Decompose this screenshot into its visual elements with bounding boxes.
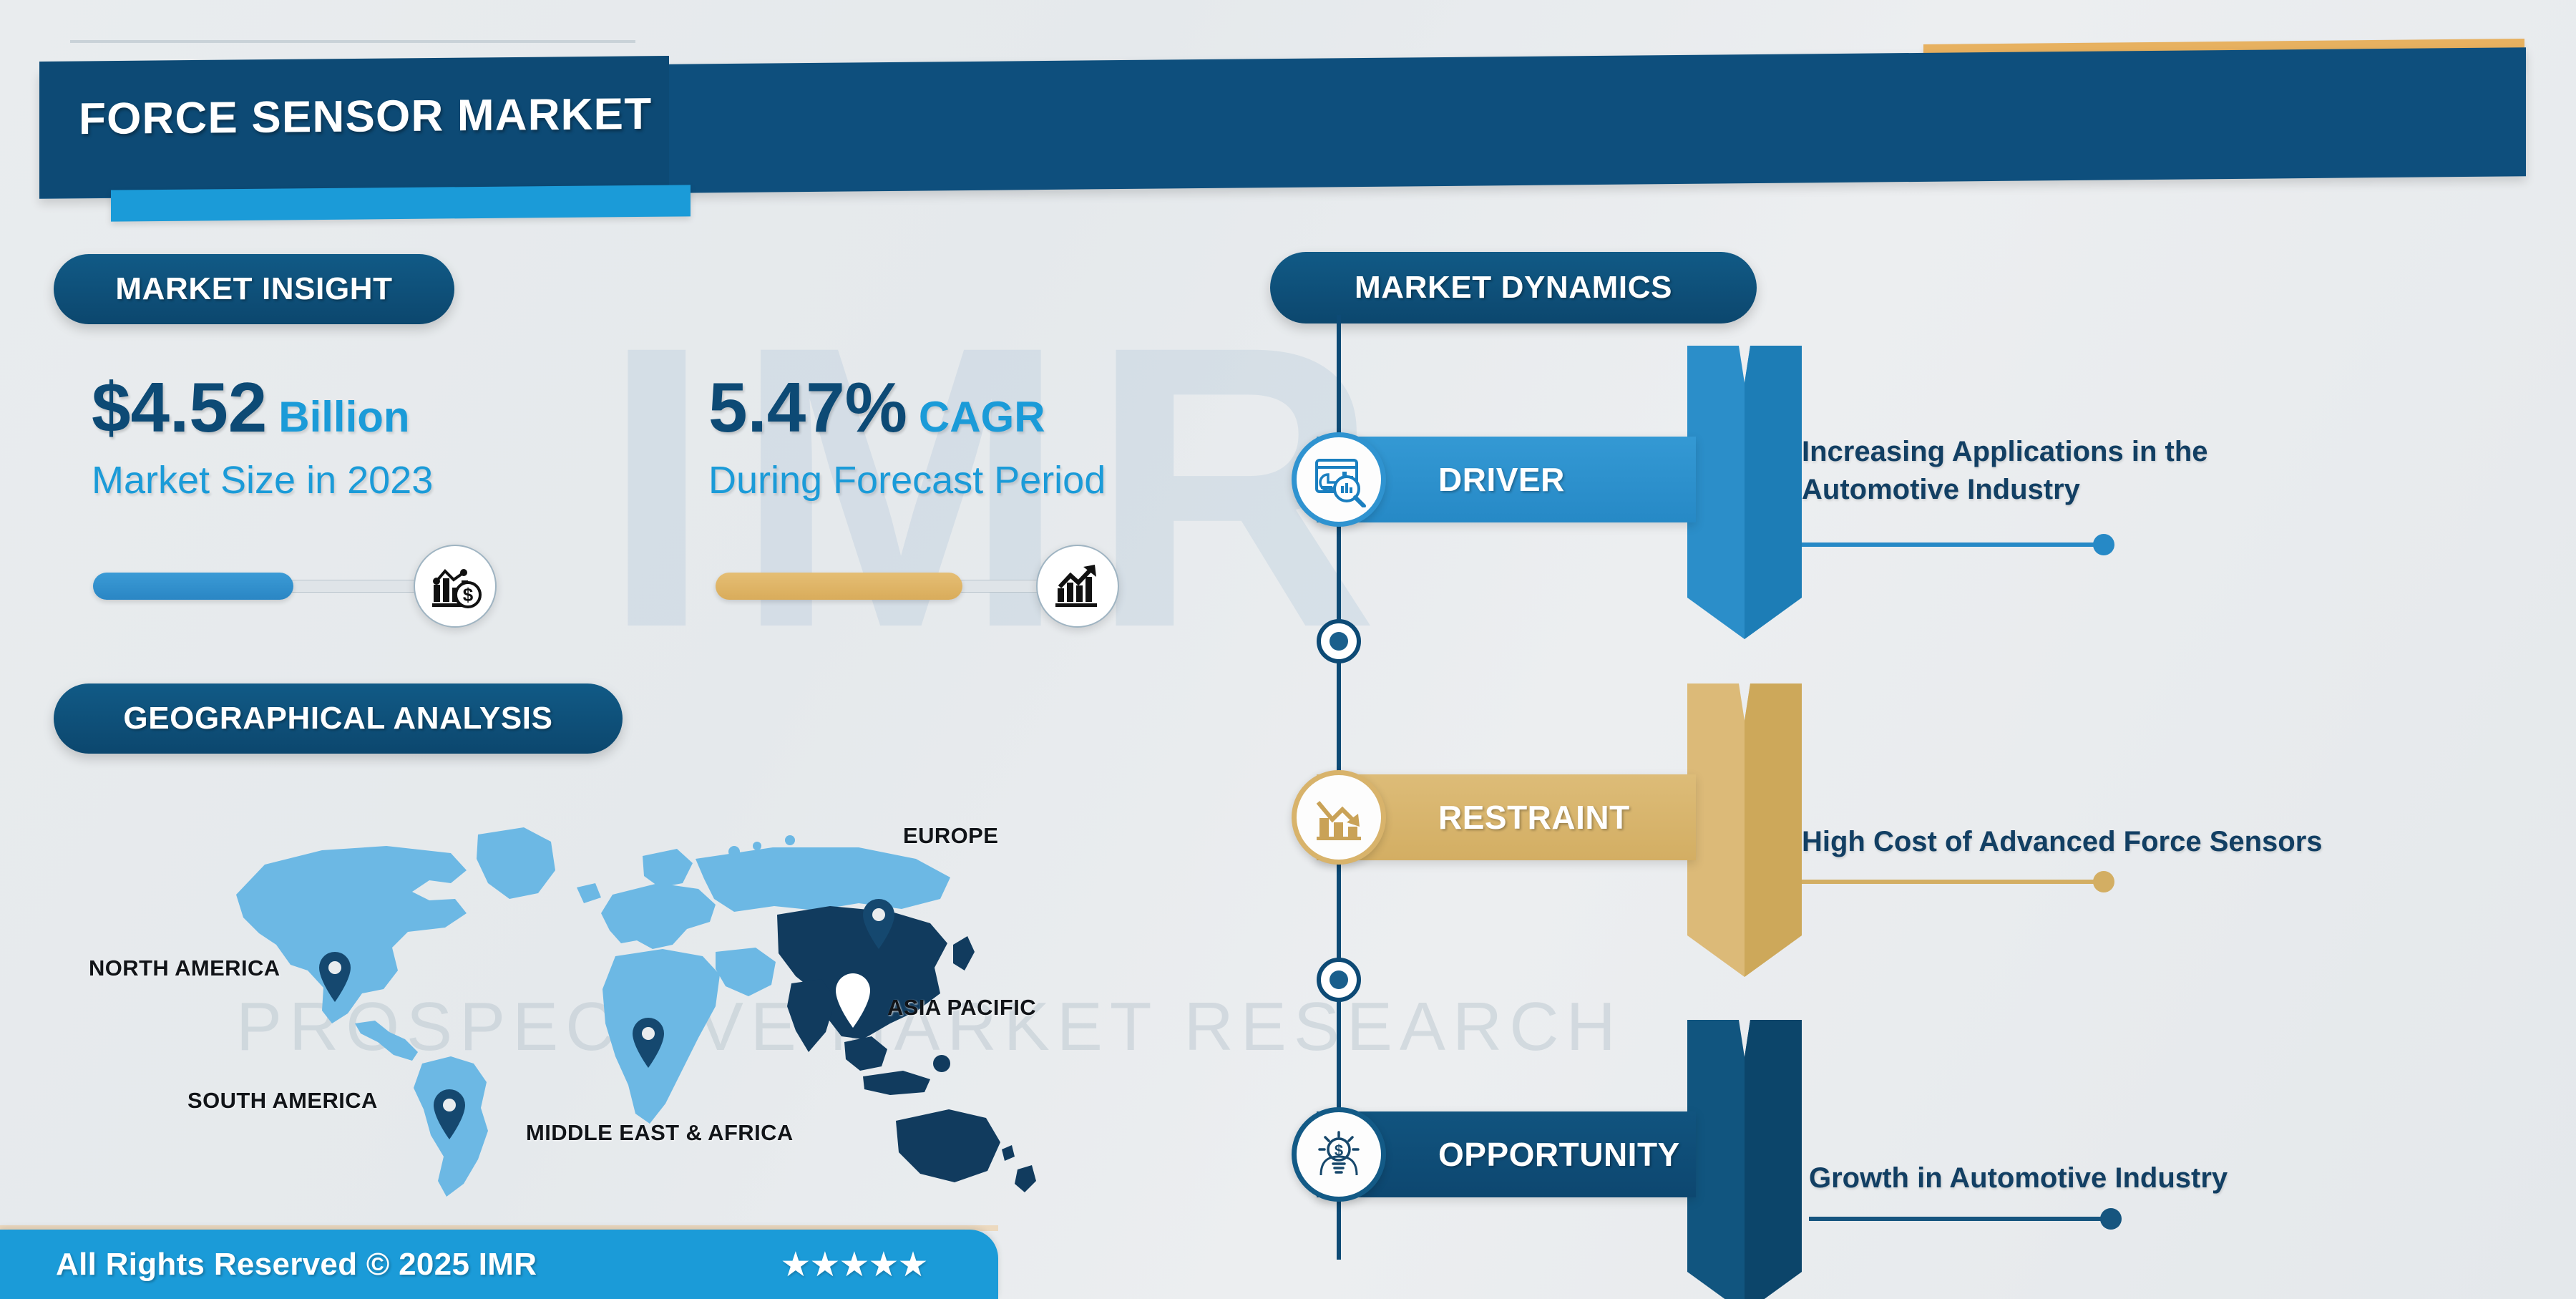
opportunity-ribbon <box>1687 1020 1802 1299</box>
lightbulb-dollar-icon: $ <box>1292 1107 1386 1202</box>
header-blue-accent <box>111 185 691 221</box>
declining-bar-chart-icon <box>1292 770 1386 865</box>
copyright-text: All Rights Reserved © 2025 IMR <box>56 1247 537 1283</box>
infographic-canvas: IMR PROSPECTIVE MARKET RESEARCH FORCE SE… <box>0 0 2576 1299</box>
driver-ribbon <box>1687 346 1802 639</box>
driver-connector-dot <box>2093 534 2114 555</box>
bar-chart-dollar-icon: $ <box>414 545 497 628</box>
cagr-caption: During Forecast Period <box>708 458 1106 502</box>
opportunity-connector-dot <box>2100 1208 2122 1230</box>
map-label-asia-pacific: ASIA PACIFIC <box>887 995 1036 1021</box>
footer-bar: All Rights Reserved © 2025 IMR ★★★★★ <box>0 1230 998 1299</box>
driver-connector-line <box>1802 543 2102 547</box>
map-label-middle-east-africa: MIDDLE EAST & AFRICA <box>526 1120 794 1146</box>
header-hairline <box>70 40 635 43</box>
opportunity-description: Growth in Automotive Industry <box>1809 1159 2539 1197</box>
chart-magnifier-icon <box>1292 432 1386 527</box>
section-pill-market-insight: MARKET INSIGHT <box>54 254 454 324</box>
map-label-south-america: SOUTH AMERICA <box>187 1088 378 1114</box>
market-size-value: $4.52 <box>92 372 267 442</box>
market-size-stat: $4.52Billion Market Size in 2023 <box>92 372 433 502</box>
restraint-connector-dot <box>2093 871 2114 892</box>
cagr-progress-fill <box>716 573 962 600</box>
driver-description: Increasing Applications in the Automotiv… <box>1802 433 2503 509</box>
opportunity-connector-line <box>1809 1217 2109 1221</box>
cagr-unit: CAGR <box>919 396 1045 439</box>
cagr-stat: 5.47%CAGR During Forecast Period <box>708 372 1106 502</box>
map-label-north-america: NORTH AMERICA <box>89 955 280 981</box>
market-size-progress-fill <box>93 573 293 600</box>
timeline-node-1 <box>1317 619 1361 663</box>
restraint-description: High Cost of Advanced Force Sensors <box>1802 823 2532 861</box>
timeline-node-2 <box>1317 958 1361 1002</box>
map-label-europe: EUROPE <box>903 823 998 849</box>
section-pill-market-dynamics: MARKET DYNAMICS <box>1270 252 1757 323</box>
rating-stars: ★★★★★ <box>780 1245 927 1285</box>
market-size-caption: Market Size in 2023 <box>92 458 433 502</box>
restraint-connector-line <box>1802 880 2102 884</box>
restraint-label: RESTRAINT <box>1438 798 1630 837</box>
opportunity-label: OPPORTUNITY <box>1438 1135 1680 1174</box>
growth-arrow-icon <box>1036 545 1119 628</box>
section-pill-geographical-analysis: GEOGRAPHICAL ANALYSIS <box>54 683 623 754</box>
restraint-ribbon <box>1687 683 1802 977</box>
cagr-value: 5.47% <box>708 372 907 442</box>
driver-label: DRIVER <box>1438 460 1565 499</box>
market-size-unit: Billion <box>278 396 409 439</box>
svg-text:$: $ <box>463 584 474 605</box>
